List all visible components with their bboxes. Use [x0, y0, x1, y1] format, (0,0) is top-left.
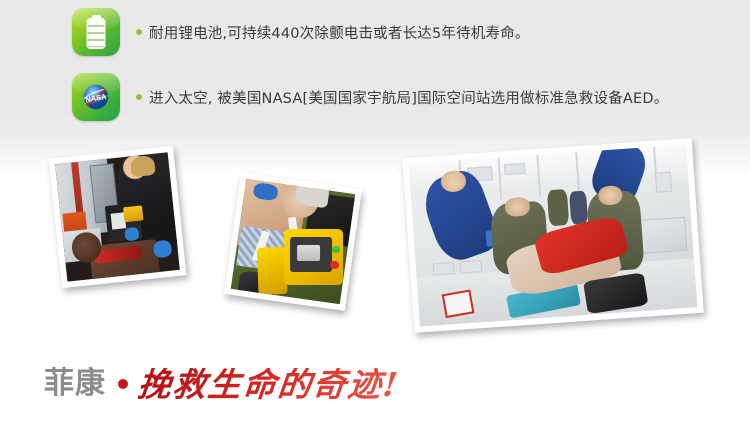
bullet-dot-icon — [136, 29, 142, 35]
nasa-meatball-glyph: NASA — [78, 79, 114, 115]
photo-field-rescue-aed — [224, 172, 362, 311]
slogan-tagline: 挽救生命的奇迹! — [136, 368, 401, 401]
slogan-separator-dot-icon — [118, 379, 128, 389]
nasa-logo-icon: NASA — [72, 73, 120, 121]
battery-icon — [72, 8, 120, 56]
feature-text-battery: 耐用锂电池,可持续440次除颤电击或者长达5年待机寿命。 — [149, 22, 530, 43]
photo-image — [231, 179, 355, 304]
photo-image — [55, 152, 180, 281]
photo-zero-gravity-training — [402, 138, 704, 333]
photo-collage — [0, 140, 750, 355]
promo-banner: 耐用锂电池,可持续440次除颤电击或者长达5年待机寿命。 — [0, 0, 750, 435]
battery-body — [87, 18, 106, 49]
battery-glyph — [87, 15, 106, 49]
photo-ambulance-aed — [49, 146, 187, 288]
feature-row-nasa: NASA 进入太空, 被美国NASA[美国国家宇航局]国际空间站选用做标准急救设… — [72, 73, 668, 121]
feature-text-nasa: 进入太空, 被美国NASA[美国国家宇航局]国际空间站选用做标准急救设备AED。 — [149, 87, 668, 108]
brand-name: 菲康 — [44, 369, 106, 399]
slogan: 菲康 挽救生命的奇迹! — [44, 360, 400, 408]
feature-row-battery: 耐用锂电池,可持续440次除颤电击或者长达5年待机寿命。 — [72, 8, 530, 56]
bullet-dot-icon — [136, 94, 142, 100]
photo-image — [409, 145, 698, 327]
